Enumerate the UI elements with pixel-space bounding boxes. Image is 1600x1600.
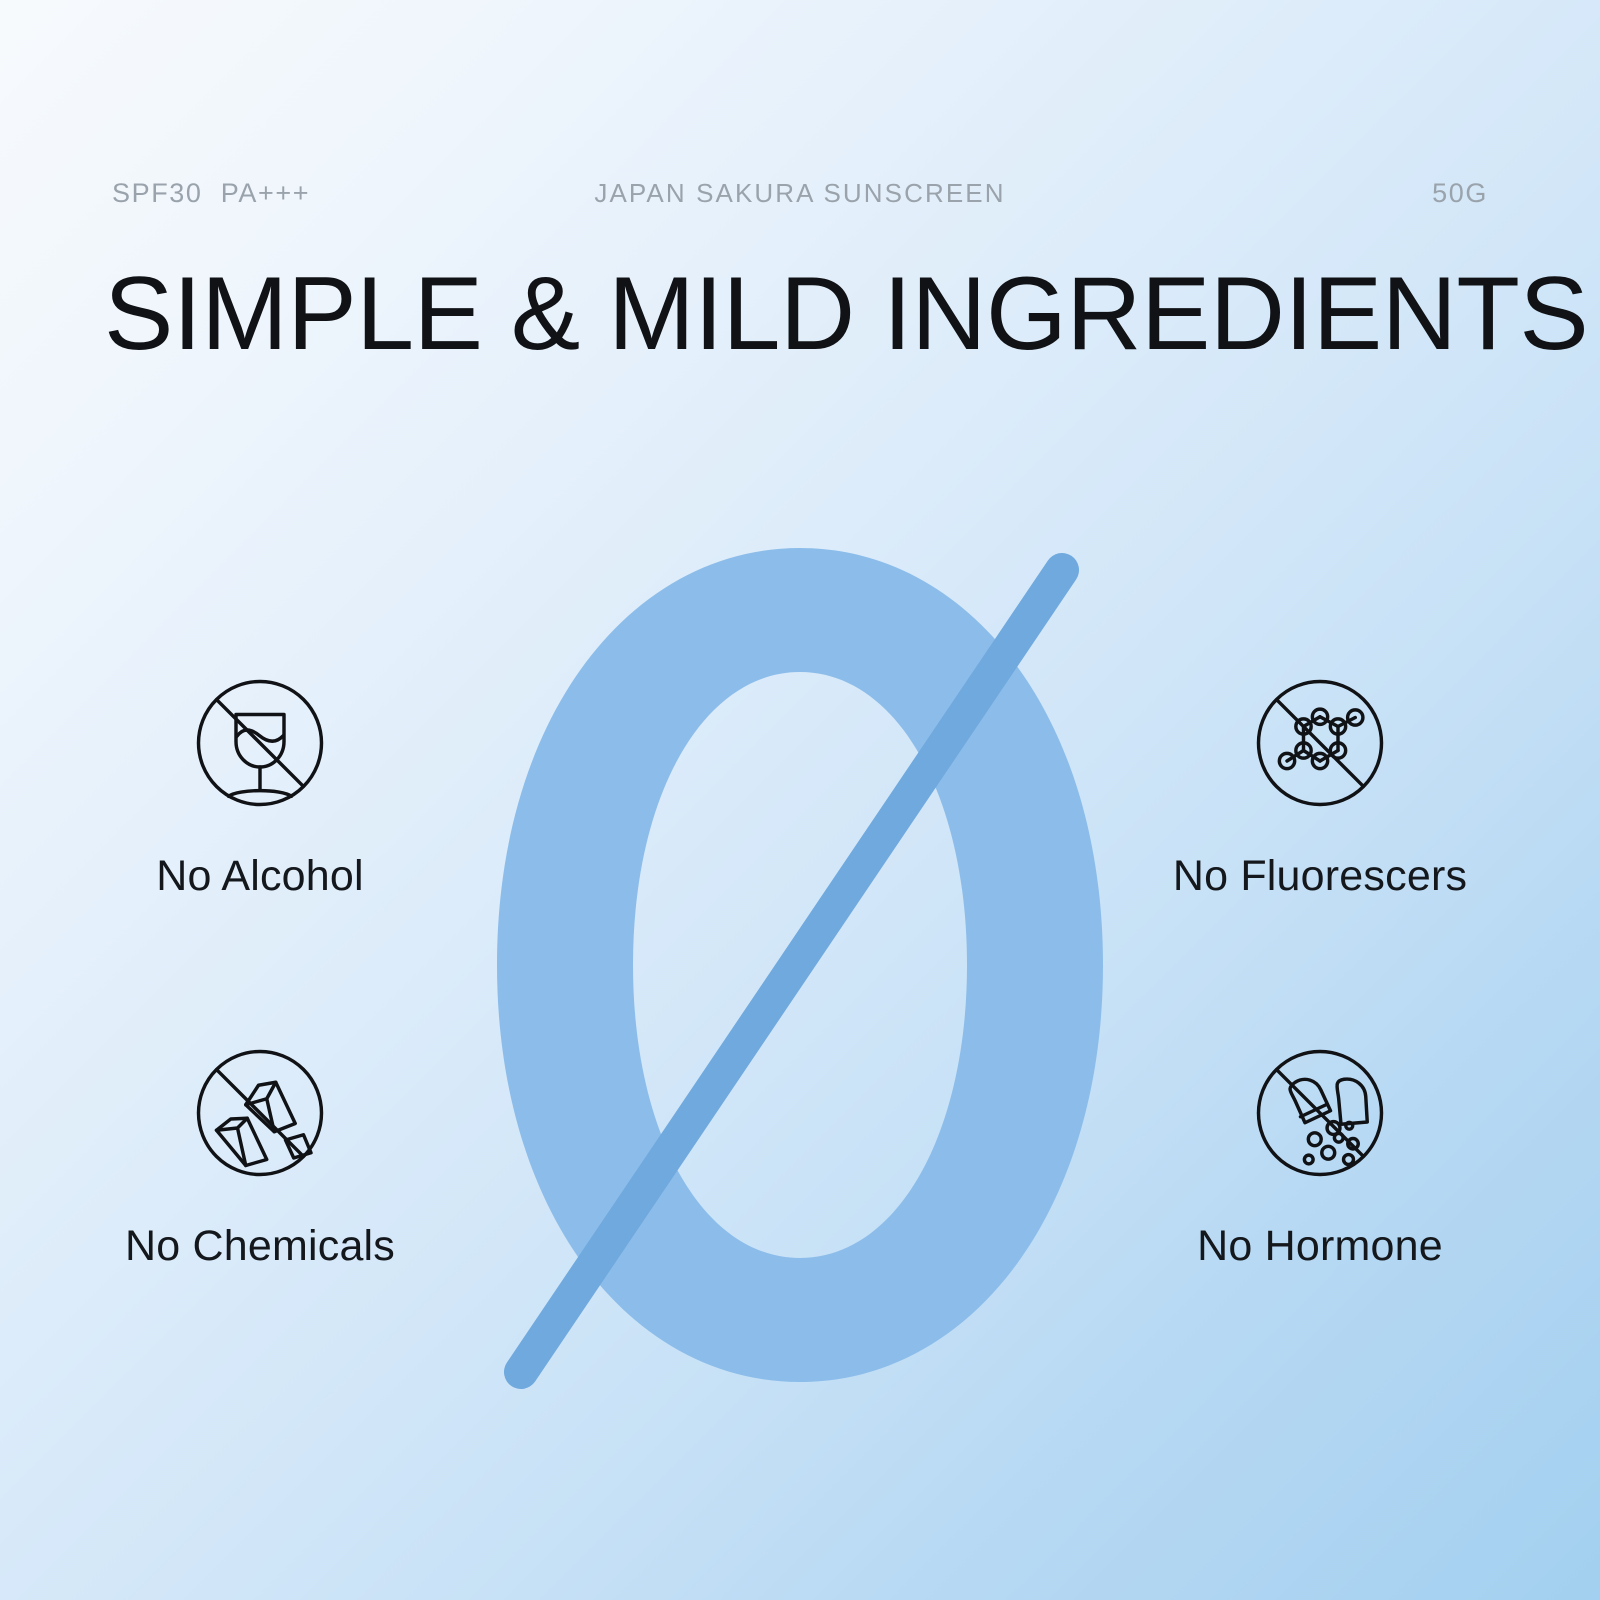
zero-glyph-shape <box>497 548 1103 1382</box>
poster-canvas: SPF30 PA+++ JAPAN SAKURA SUNSCREEN 50G S… <box>0 0 1600 1600</box>
feature-no-chemicals[interactable]: No Chemicals <box>80 1038 440 1271</box>
diagonal-slash-icon <box>521 570 1062 1372</box>
feature-label-no-fluorescers: No Fluorescers <box>1173 852 1467 901</box>
header-bar: SPF30 PA+++ JAPAN SAKURA SUNSCREEN 50G <box>112 172 1488 214</box>
no-hormone-icon <box>1245 1038 1395 1188</box>
brand-name-label: JAPAN SAKURA SUNSCREEN <box>594 178 1005 209</box>
feature-label-no-alcohol: No Alcohol <box>156 852 364 901</box>
feature-no-alcohol[interactable]: No Alcohol <box>80 668 440 901</box>
feature-no-fluorescers[interactable]: No Fluorescers <box>1140 668 1500 901</box>
spf-spec-label: SPF30 PA+++ <box>112 178 310 209</box>
no-alcohol-icon <box>185 668 335 818</box>
feature-label-no-chemicals: No Chemicals <box>125 1222 395 1271</box>
page-title: SIMPLE & MILD INGREDIENTS <box>104 262 1496 366</box>
no-chemicals-icon <box>185 1038 335 1188</box>
feature-label-no-hormone: No Hormone <box>1197 1222 1443 1271</box>
no-fluorescers-icon <box>1245 668 1395 818</box>
feature-no-hormone[interactable]: No Hormone <box>1140 1038 1500 1271</box>
net-weight-label: 50G <box>1432 178 1488 209</box>
